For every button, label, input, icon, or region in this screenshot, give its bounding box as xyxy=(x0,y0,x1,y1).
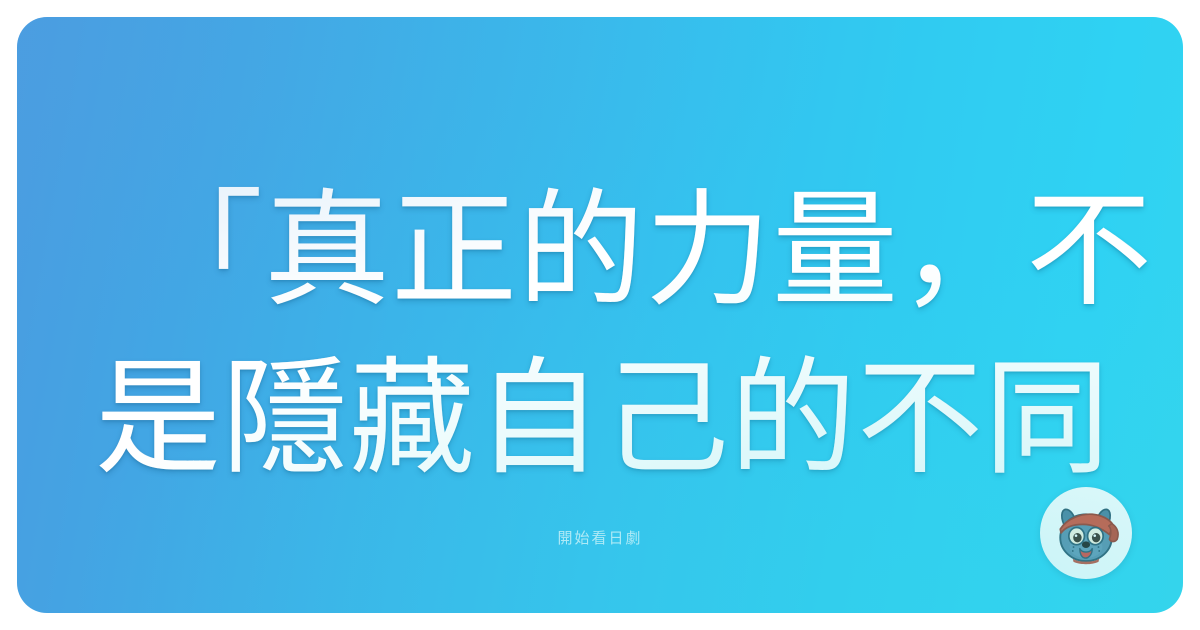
quote-block: 「真正的力量，不 是隱藏自己的不同 xyxy=(17,167,1183,502)
cat-avatar-icon xyxy=(1047,494,1125,572)
quote-line-1: 「真正的力量，不 xyxy=(17,167,1183,335)
quote-line-2: 是隱藏自己的不同 xyxy=(17,335,1183,503)
caption-label: 開始看日劇 xyxy=(17,527,1183,548)
quote-card: 「真正的力量，不 是隱藏自己的不同 開始看日劇 xyxy=(17,17,1183,613)
screenshot-canvas: 「真正的力量，不 是隱藏自己的不同 開始看日劇 xyxy=(0,0,1200,630)
avatar[interactable] xyxy=(1040,487,1132,579)
